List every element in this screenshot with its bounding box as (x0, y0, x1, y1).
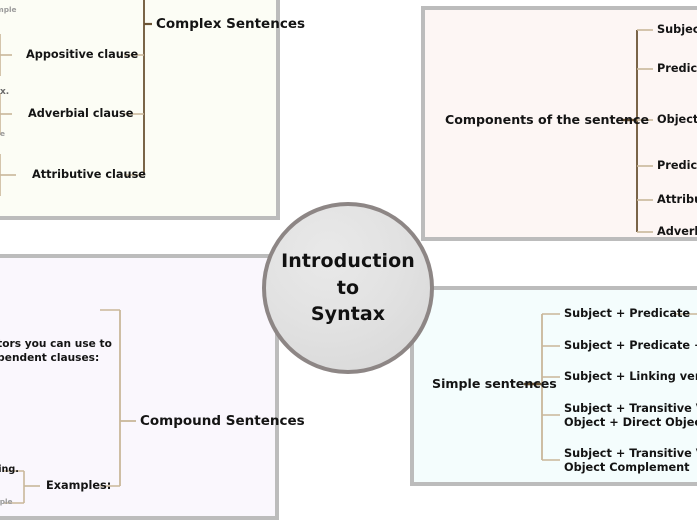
center-node-label: IntroductiontoSyntax (281, 248, 415, 329)
clipped-leaf-complex-adverbial-b[interactable]: e (0, 129, 5, 138)
branch-title-components-of-the-sentence[interactable]: Components of the sentence (445, 112, 649, 128)
node-predicate[interactable]: Predicate (657, 62, 697, 76)
node-pattern-subject-predicate-object[interactable]: Subject + Predicate + Objec (564, 339, 697, 353)
center-node-introduction-to-syntax[interactable]: IntroductiontoSyntax (262, 202, 434, 374)
node-attributive-clause[interactable]: Attributive clause (32, 168, 146, 182)
node-adverbial[interactable]: Adverbial (657, 225, 697, 239)
branch-title-complex-sentences[interactable]: Complex Sentences (156, 16, 305, 33)
node-appositive-clause[interactable]: Appositive clause (26, 48, 138, 62)
node-pattern-subject-transitive-object-complement[interactable]: Subject + Transitive Verb + C Object Com… (564, 447, 697, 476)
leaf-example-two[interactable]: mple (0, 497, 13, 506)
panel-simple-inner: Simple sentences Subject + Predicate Sub… (414, 290, 697, 482)
node-attribute[interactable]: Attribute (657, 193, 697, 207)
leaf-example-one[interactable]: ving. (0, 464, 19, 476)
node-coordinators-note[interactable]: ators you can use to ependent clauses: (0, 338, 112, 365)
panel-complex-inner: Complex Sentences Appositive clause Adve… (0, 0, 276, 216)
node-predicative[interactable]: Predicative (657, 159, 697, 173)
node-pattern-subject-transitive-indirect-direct[interactable]: Subject + Transitive Verb + I Object + D… (564, 402, 697, 431)
branch-title-simple-sentences[interactable]: Simple sentences (432, 376, 557, 392)
clipped-leaf-complex-adverbial-a[interactable]: x. (0, 87, 9, 99)
panel-components-of-the-sentence[interactable]: Components of the sentence Subject Predi… (421, 6, 697, 241)
node-pattern-subject-linking-verb[interactable]: Subject + Linking verb + Pre (564, 370, 697, 384)
panel-compound-inner: Compound Sentences ators you can use to … (0, 258, 275, 516)
branch-title-compound-sentences[interactable]: Compound Sentences (140, 413, 305, 430)
mindmap-canvas: Complex Sentences Appositive clause Adve… (0, 0, 697, 520)
node-examples[interactable]: Examples: (46, 479, 111, 493)
panel-simple-sentences[interactable]: Simple sentences Subject + Predicate Sub… (410, 286, 697, 486)
clipped-leaf-complex-example-top[interactable]: mple (0, 5, 17, 14)
panel-compound-sentences[interactable]: Compound Sentences ators you can use to … (0, 254, 279, 520)
node-adverbial-clause[interactable]: Adverbial clause (28, 107, 133, 121)
node-pattern-subject-predicate[interactable]: Subject + Predicate (564, 307, 690, 321)
node-object[interactable]: Object (657, 113, 697, 127)
node-subject[interactable]: Subject (657, 23, 697, 37)
compound-connectors (0, 258, 283, 520)
panel-components-inner: Components of the sentence Subject Predi… (425, 10, 697, 237)
panel-complex-sentences[interactable]: Complex Sentences Appositive clause Adve… (0, 0, 280, 220)
